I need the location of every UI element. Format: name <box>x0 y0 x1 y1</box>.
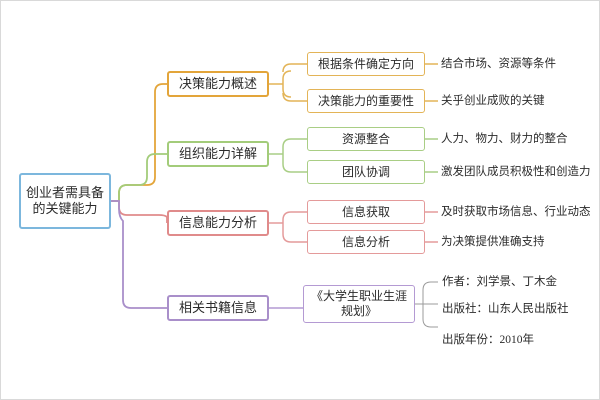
leaf-book-year: 出版年份：2010年 <box>442 335 534 347</box>
sub-node-label: 决策能力的重要性 <box>318 94 414 109</box>
leaf-team-coordination-detail: 激发团队成员积极性和创造力 <box>441 167 591 179</box>
wire-root-information <box>111 201 167 223</box>
leaf-book-publisher: 出版社：山东人民出版社 <box>442 304 569 316</box>
sub-node-team-coordination[interactable]: 团队协调 <box>307 160 425 184</box>
leaf-book-author: 作者：刘学景、丁木金 <box>442 277 557 289</box>
leaf-decision-importance-detail: 关乎创业成败的关键 <box>441 96 545 108</box>
leaf-information-analysis-detail: 为决策提供准确支持 <box>441 237 545 249</box>
leaf-decision-direction-detail: 结合市场、资源等条件 <box>441 59 556 71</box>
sub-node-label: 信息分析 <box>342 235 390 250</box>
root-node[interactable]: 创业者需具备的关键能力 <box>19 173 111 229</box>
sub-node-label: 信息获取 <box>342 205 390 220</box>
sub-node-information-acquisition[interactable]: 信息获取 <box>307 200 425 224</box>
sub-node-label: 团队协调 <box>342 165 390 180</box>
wire-organization-child-1 <box>283 139 307 147</box>
sub-node-label: 根据条件确定方向 <box>318 57 414 72</box>
branch-label: 决策能力概述 <box>179 76 257 92</box>
sub-node-book-title[interactable]: 《大学生职业生涯规划》 <box>303 285 415 323</box>
wire-root-decision <box>111 84 167 201</box>
sub-node-label: 资源整合 <box>342 132 390 147</box>
sub-node-decision-direction[interactable]: 根据条件确定方向 <box>307 52 425 76</box>
leaf-resource-integration-detail: 人力、物力、财力的整合 <box>441 134 568 146</box>
branch-node-information[interactable]: 信息能力分析 <box>167 210 269 236</box>
leaf-information-acquisition-detail: 及时获取市场信息、行业动态 <box>441 207 591 219</box>
wire-root-organization <box>111 154 167 201</box>
root-node-label: 创业者需具备的关键能力 <box>25 185 105 218</box>
wire-root-book <box>111 201 167 308</box>
wire-information-child-1 <box>283 212 307 220</box>
sub-node-information-analysis[interactable]: 信息分析 <box>307 230 425 254</box>
branch-label: 信息能力分析 <box>179 215 257 231</box>
branch-node-organization[interactable]: 组织能力详解 <box>167 141 269 167</box>
wire-book-brace <box>423 282 431 327</box>
wire-organization-child-2 <box>283 164 307 172</box>
sub-node-decision-importance[interactable]: 决策能力的重要性 <box>307 89 425 113</box>
branch-node-decision[interactable]: 决策能力概述 <box>167 71 269 97</box>
wire-decision-brace <box>283 71 291 97</box>
wire-information-child-2 <box>283 234 307 242</box>
mindmap-canvas: 创业者需具备的关键能力 决策能力概述 组织能力详解 信息能力分析 相关书籍信息 … <box>0 0 600 400</box>
sub-node-label: 《大学生职业生涯规划》 <box>309 289 409 319</box>
sub-node-resource-integration[interactable]: 资源整合 <box>307 127 425 151</box>
branch-label: 相关书籍信息 <box>179 300 257 316</box>
wire-decision-child-2 <box>283 93 307 101</box>
branch-label: 组织能力详解 <box>179 146 257 162</box>
wire-decision-child-1 <box>283 64 307 72</box>
branch-node-book[interactable]: 相关书籍信息 <box>167 295 269 321</box>
